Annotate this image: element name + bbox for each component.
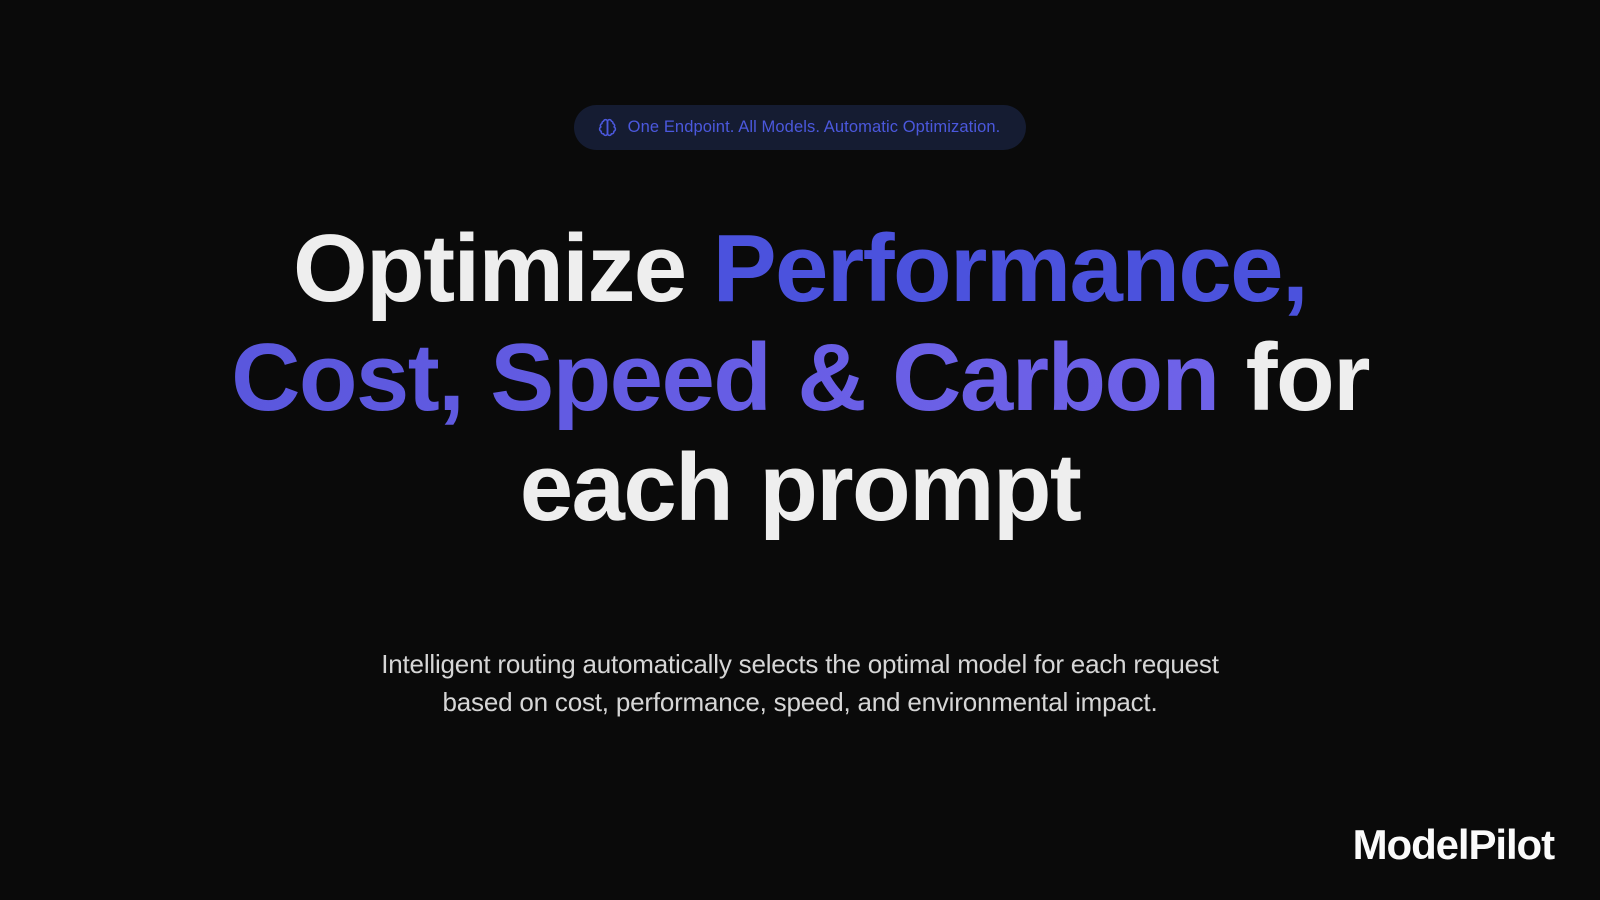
headline-accent-performance: Performance, (713, 215, 1307, 322)
headline-plain-optimize: Optimize (293, 215, 713, 322)
page-title: Optimize Performance, Cost, Speed & Carb… (200, 214, 1400, 542)
headline-plain-for: for (1219, 324, 1369, 431)
tagline-badge: One Endpoint. All Models. Automatic Opti… (574, 105, 1027, 150)
headline-plain-each-prompt: each prompt (520, 434, 1081, 541)
headline-accent-cost-speed-carbon: Cost, Speed & Carbon (231, 324, 1218, 431)
brand-wordmark: ModelPilot (1353, 824, 1554, 866)
hero-section: One Endpoint. All Models. Automatic Opti… (0, 0, 1600, 900)
tagline-badge-label: One Endpoint. All Models. Automatic Opti… (628, 119, 1001, 136)
page-subtitle-line-2: based on cost, performance, speed, and e… (335, 684, 1265, 721)
page-subtitle-line-1: Intelligent routing automatically select… (335, 646, 1265, 683)
brain-icon (598, 118, 617, 137)
page-subtitle: Intelligent routing automatically select… (335, 646, 1265, 721)
